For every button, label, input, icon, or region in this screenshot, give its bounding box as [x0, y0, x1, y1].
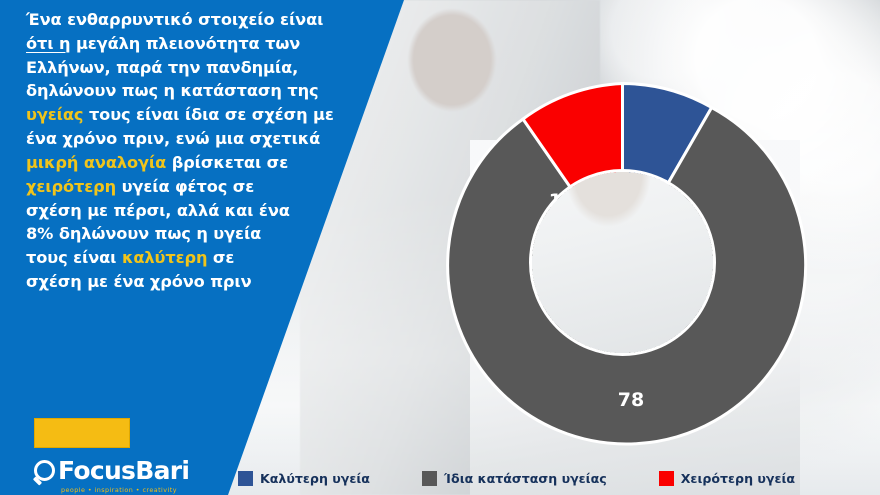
headline-highlight-4: καλύτερη	[122, 248, 207, 267]
donut-label-cheiroteri: 14	[549, 190, 575, 212]
logo-name: FocusBari	[58, 458, 189, 483]
headline-line-6: ένα χρόνο πριν, ενώ μια σχετικά	[26, 129, 320, 148]
headline-line-10: 8% δηλώνουν πως η υγεία	[26, 224, 261, 243]
headline-line-5-rest: τους είναι ίδια σε σχέση με	[83, 105, 333, 124]
headline-text: Ένα ενθαρρυντικό στοιχείο είναι ότι η με…	[26, 8, 344, 294]
slide-canvas: Ένα ενθαρρυντικό στοιχείο είναι ότι η με…	[0, 0, 880, 495]
headline-line-2-rest: μεγάλη πλειονότητα των	[70, 34, 300, 53]
headline-line-11-end: σε	[207, 248, 234, 267]
headline-line-7-rest: βρίσκεται σε	[166, 153, 288, 172]
donut-label-idia: 78	[618, 389, 644, 411]
headline-line-8-rest: υγεία φέτος σε	[116, 177, 254, 196]
legend-swatch-icon-red	[659, 471, 674, 486]
legend-label-kalyteri: Καλύτερη υγεία	[260, 471, 370, 486]
magnifier-icon	[34, 460, 55, 481]
legend-item-cheiroteri[interactable]: Χειρότερη υγεία	[659, 471, 795, 486]
logo-yellow-mark	[34, 418, 130, 448]
headline-line-3: Ελλήνων, παρά την πανδημία,	[26, 58, 298, 77]
donut-chart: 8 78 14	[435, 75, 810, 450]
logo-tagline: people • inspiration • creativity	[61, 486, 189, 494]
donut-label-kalyteri: 8	[656, 176, 669, 198]
donut-chart-svg: 8 78 14	[435, 75, 810, 450]
legend-label-cheiroteri: Χειρότερη υγεία	[681, 471, 795, 486]
chart-legend: Καλύτερη υγεία Ίδια κατάσταση υγείας Χει…	[238, 471, 795, 486]
legend-swatch-icon-grey	[422, 471, 437, 486]
headline-line-4: δηλώνουν πως η κατάσταση της	[26, 81, 319, 100]
legend-swatch-icon-blue	[238, 471, 253, 486]
headline-highlight-1: υγείας	[26, 105, 83, 124]
legend-label-idia: Ίδια κατάσταση υγείας	[444, 471, 607, 486]
headline-highlight-3: χειρότερη	[26, 177, 116, 196]
headline-line-12: σχέση με ένα χρόνο πριν	[26, 272, 252, 291]
legend-item-kalyteri[interactable]: Καλύτερη υγεία	[238, 471, 370, 486]
headline-line-9: σχέση με πέρσι, αλλά και ένα	[26, 201, 290, 220]
headline-highlight-2: μικρή αναλογία	[26, 153, 166, 172]
headline-underlined-fragment: ότι η	[26, 34, 70, 53]
headline-line-1: Ένα ενθαρρυντικό στοιχείο είναι	[26, 10, 323, 29]
focusbari-logo: FocusBari people • inspiration • creativ…	[34, 418, 189, 494]
headline-line-11-start: τους είναι	[26, 248, 122, 267]
logo-wordmark: FocusBari	[34, 458, 189, 483]
legend-item-idia[interactable]: Ίδια κατάσταση υγείας	[422, 471, 607, 486]
